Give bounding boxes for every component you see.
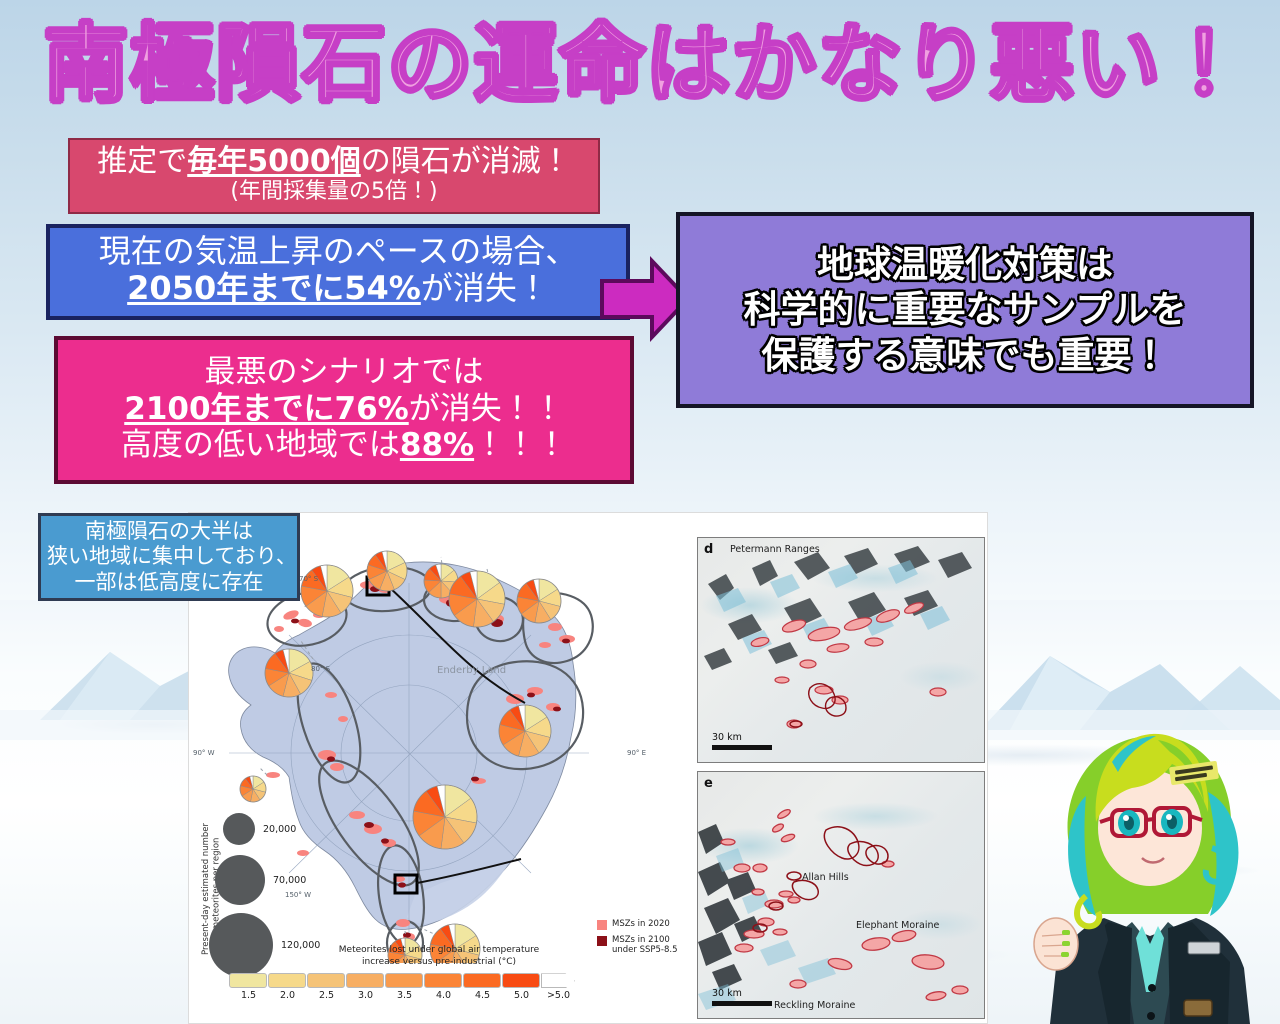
colorbar-segment-3.0	[346, 973, 384, 988]
colorbar-tick-4.5: 4.5	[463, 990, 502, 1001]
inset-panel-allan-hills: e Allan Hills Elephant Moraine Reckling …	[697, 771, 985, 1019]
character-button-2	[1147, 1012, 1155, 1020]
colorbar-title-line1: Meteorites lost under global air tempera…	[339, 945, 539, 955]
msz-legend-swatch-1	[597, 936, 607, 946]
annual-loss-line1: 推定で毎年5000個の隕石が消滅！	[80, 145, 588, 179]
graticule-label-90w: 90° W	[193, 749, 215, 757]
antarctica-figure: 70° S 80° S 90° W 90° E 150° W Enderby L…	[188, 512, 988, 1024]
colorbar-overflow-arrow	[541, 973, 575, 988]
colorbar-segment-2.5	[307, 973, 345, 988]
inset-e-label-reckling-moraine: Reckling Moraine	[774, 1000, 855, 1011]
fact-box-annual-loss: 推定で毎年5000個の隕石が消滅！ (年間採集量の5倍！)	[68, 138, 600, 214]
pie-region-9	[413, 785, 477, 849]
colorbar-swatches	[229, 973, 649, 988]
colorbar-segment-5.0	[502, 973, 540, 988]
inset-e-label-elephant-moraine: Elephant Moraine	[856, 920, 939, 931]
figure-caption-box: 南極隕石の大半は 狭い地域に集中しており、 一部は低高度に存在	[38, 513, 300, 601]
size-legend-label-20000: 20,000	[263, 824, 296, 835]
graticule-label-80s: 80° S	[311, 665, 330, 673]
character-name-badge	[1188, 942, 1220, 954]
colorbar-tick-labels: 1.52.02.53.03.54.04.55.0>5.0	[229, 990, 649, 1001]
caption-line2: 狭い地域に集中しており、	[47, 544, 291, 570]
inset-d-letter: d	[704, 542, 713, 557]
temperature-colorbar: Meteorites lost under global air tempera…	[229, 945, 649, 1001]
size-legend-circle-20000	[223, 813, 255, 845]
colorbar-tick-1.5: 1.5	[229, 990, 268, 1001]
y2050-line1: 現在の気温上昇のペースの場合、	[60, 234, 616, 270]
caption-line1: 南極隕石の大半は	[47, 519, 291, 545]
inset-d-scalebar-bar	[712, 745, 772, 750]
character-hand	[1034, 918, 1078, 970]
inset-d-scalebar: 30 km	[712, 732, 772, 750]
colorbar-segment-1.5	[229, 973, 267, 988]
y2100-low-alt-prefix: 高度の低い地域では	[121, 427, 400, 463]
annual-loss-suffix: の隕石が消滅！	[361, 144, 571, 179]
colorbar-tick-4.0: 4.0	[424, 990, 463, 1001]
pie-region-7	[499, 705, 551, 757]
colorbar-tick-2.5: 2.5	[307, 990, 346, 1001]
fact-box-conclusion: 地球温暖化対策は 科学的に重要なサンプルを 保護する意味でも重要！	[676, 212, 1254, 408]
slide-root: 南極隕石の運命はかなり悪い！ 推定で毎年5000個の隕石が消滅！ (年間採集量の…	[0, 0, 1280, 1024]
msz-legend-row-1: MSZs in 2100under SSP5-8.5	[597, 935, 707, 955]
anime-mascot-illustration	[1012, 700, 1280, 1024]
msz-legend: MSZs in 2020MSZs in 2100under SSP5-8.5	[597, 919, 707, 960]
inset-e-label-allan-hills: Allan Hills	[802, 872, 849, 883]
y2100-line1: 最悪のシナリオでは	[68, 355, 620, 390]
fact-box-2100: 最悪のシナリオでは 2100年までに76%が消失！！ 高度の低い地域では88%！…	[54, 336, 634, 484]
colorbar-tick-5.0: 5.0	[502, 990, 541, 1001]
inset-e-overlay	[698, 772, 985, 1019]
y2050-suffix: が消失！	[421, 269, 549, 307]
pie-region-5	[517, 579, 561, 623]
msz-legend-label-0: MSZs in 2020	[612, 919, 670, 929]
inset-e-scalebar: 30 km	[712, 988, 772, 1006]
inset-d-title: Petermann Ranges	[730, 544, 820, 555]
msz-legend-label-1: MSZs in 2100under SSP5-8.5	[612, 935, 678, 955]
annual-loss-prefix: 推定で	[97, 144, 187, 179]
pie-region-2	[367, 551, 407, 591]
colorbar-tick-3.5: 3.5	[385, 990, 424, 1001]
annual-loss-line2: (年間採集量の5倍！)	[80, 180, 588, 205]
character-button-1	[1148, 984, 1156, 992]
colorbar-title: Meteorites lost under global air tempera…	[229, 945, 649, 968]
colorbar-segment-4.0	[424, 973, 462, 988]
page-title: 南極隕石の運命はかなり悪い！	[44, 22, 1224, 106]
caption-line3: 一部は低高度に存在	[47, 570, 291, 596]
inset-panel-petermann-ranges: d Petermann Ranges 30 km	[697, 537, 985, 763]
inset-e-scalebar-label: 30 km	[712, 988, 772, 999]
place-label-enderby-land: Enderby Land	[437, 665, 506, 676]
msz-legend-row-0: MSZs in 2020	[597, 919, 707, 930]
y2100-low-alt-highlight: 88%	[400, 427, 474, 463]
inset-e-letter: e	[704, 776, 713, 791]
colorbar-tick-3.0: 3.0	[346, 990, 385, 1001]
colorbar-segment-3.5	[385, 973, 423, 988]
pie-region-8	[240, 776, 266, 802]
inset-d-overlay	[698, 538, 985, 763]
pie-region-1	[301, 565, 353, 617]
msz-legend-swatch-0	[597, 920, 607, 930]
inset-d-scalebar-label: 30 km	[712, 732, 772, 743]
conclusion-line3: 保護する意味でも重要！	[692, 333, 1238, 378]
y2100-suffix: が消失！！	[409, 391, 564, 427]
conclusion-line1: 地球温暖化対策は	[692, 242, 1238, 287]
fact-box-2050: 現在の気温上昇のペースの場合、 2050年までに54%が消失！	[46, 224, 630, 320]
size-legend-label-70000: 70,000	[273, 875, 306, 886]
y2100-low-alt-suffix: ！！！	[474, 427, 567, 463]
graticule-label-70s: 70° S	[299, 575, 318, 583]
colorbar-tick-2.0: 2.0	[268, 990, 307, 1001]
colorbar-segment-4.5	[463, 973, 501, 988]
y2050-highlight: 2050年までに54%	[127, 269, 421, 307]
colorbar-tick->5.0: >5.0	[541, 990, 576, 1001]
y2050-line2: 2050年までに54%が消失！	[60, 271, 616, 307]
conclusion-line2: 科学的に重要なサンプルを	[692, 287, 1238, 332]
character-belt-buckle	[1184, 1000, 1212, 1016]
colorbar-title-line2: increase versus pre-industrial (°C)	[362, 957, 516, 967]
pie-region-4	[449, 571, 505, 627]
y2100-line3: 高度の低い地域では88%！！！	[68, 428, 620, 463]
y2100-highlight: 2100年までに76%	[124, 391, 408, 427]
colorbar-segment-2.0	[268, 973, 306, 988]
annual-loss-highlight: 毎年5000個	[187, 144, 361, 179]
pie-region-6	[265, 649, 313, 697]
y2100-line2: 2100年までに76%が消失！！	[68, 392, 620, 427]
inset-e-scalebar-bar	[712, 1001, 772, 1006]
graticule-label-90e: 90° E	[627, 749, 646, 757]
size-legend-circle-70000	[215, 855, 265, 905]
